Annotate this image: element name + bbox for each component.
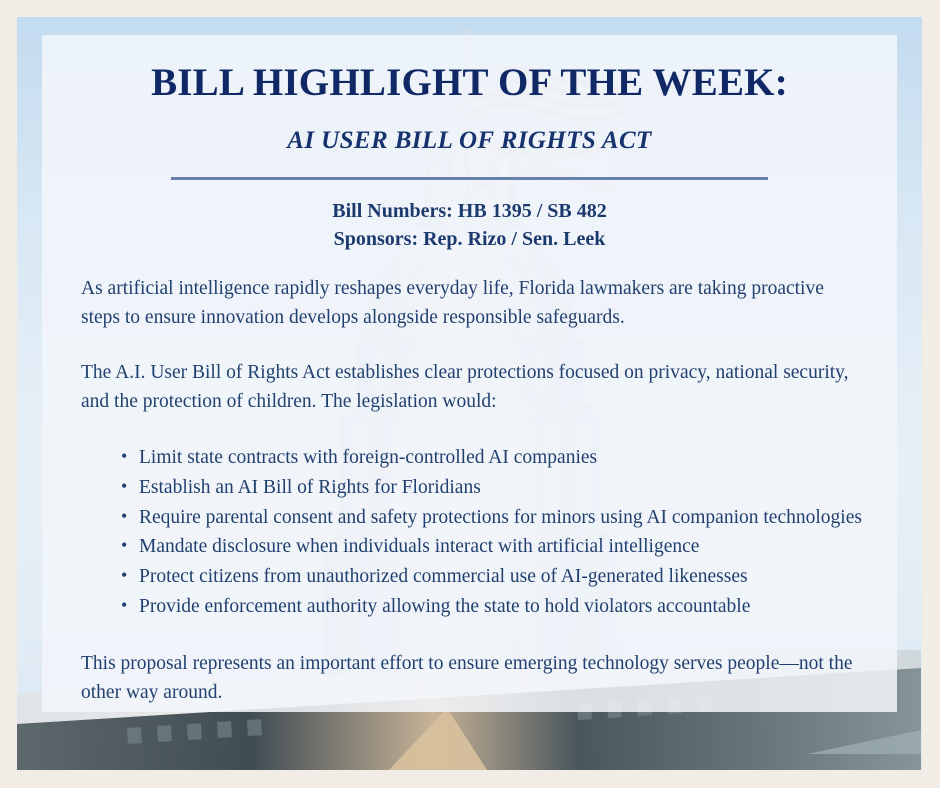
overview-paragraph: The A.I. User Bill of Rights Act establi…: [75, 333, 864, 417]
bill-subtitle: AI USER BILL OF RIGHTS ACT: [75, 105, 864, 155]
intro-paragraph: As artificial intelligence rapidly resha…: [75, 275, 864, 333]
body-content: As artificial intelligence rapidly resha…: [75, 253, 864, 707]
list-item: Mandate disclosure when individuals inte…: [121, 533, 864, 562]
list-item: Provide enforcement authority allowing t…: [121, 593, 864, 622]
list-item: Require parental consent and safety prot…: [121, 504, 864, 533]
closing-paragraph: This proposal represents an important ef…: [75, 623, 864, 708]
bill-highlight-poster: BILL HIGHLIGHT OF THE WEEK: AI USER BILL…: [0, 0, 940, 788]
list-item: Establish an AI Bill of Rights for Flori…: [121, 474, 864, 503]
provisions-list: Limit state contracts with foreign-contr…: [75, 417, 864, 622]
page-title: BILL HIGHLIGHT OF THE WEEK:: [75, 35, 864, 105]
content-card: BILL HIGHLIGHT OF THE WEEK: AI USER BILL…: [42, 35, 897, 712]
poster-blue-frame: BILL HIGHLIGHT OF THE WEEK: AI USER BILL…: [17, 17, 922, 770]
bill-meta: Bill Numbers: HB 1395 / SB 482 Sponsors:…: [75, 180, 864, 254]
bill-sponsors: Sponsors: Rep. Rizo / Sen. Leek: [75, 225, 864, 253]
list-item: Protect citizens from unauthorized comme…: [121, 563, 864, 592]
list-item: Limit state contracts with foreign-contr…: [121, 444, 864, 473]
bill-numbers: Bill Numbers: HB 1395 / SB 482: [75, 197, 864, 225]
